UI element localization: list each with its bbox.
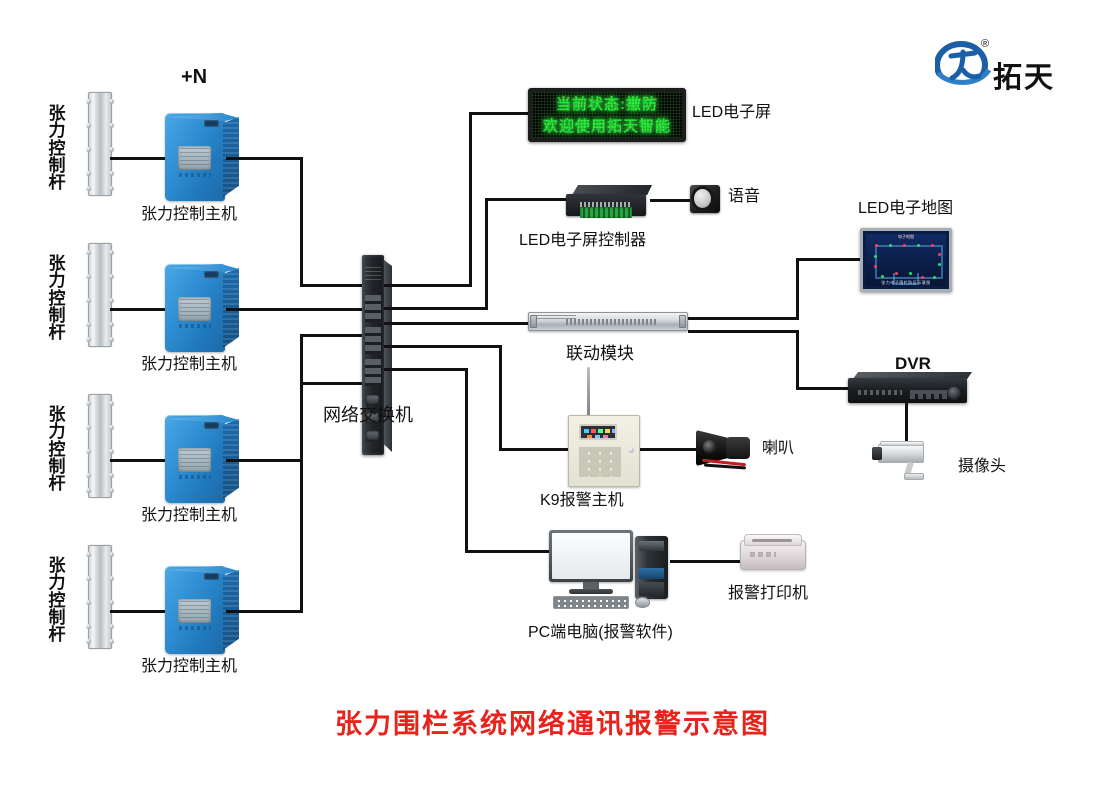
wire-host4-trunk <box>226 610 303 613</box>
wire-trunk-row1 <box>300 157 303 287</box>
wire-linkage-map-v <box>796 258 799 320</box>
wire-linkage-map-h1 <box>688 317 799 320</box>
pole-label-2: 张力控制杆 <box>48 255 66 342</box>
tension-pole-3 <box>88 394 112 498</box>
brand-logo: ® 拓天 <box>935 38 1095 96</box>
wire-pole3-host3 <box>110 459 170 462</box>
wire-switch-pc-v <box>465 368 468 553</box>
horn-speaker <box>696 428 762 472</box>
tension-pole-4 <box>88 545 112 649</box>
alarm-printer <box>740 532 812 576</box>
wire-switch-ledscreen-h1 <box>384 284 472 287</box>
wire-switch-k9-v <box>499 345 502 451</box>
linkage-module <box>528 312 688 334</box>
horn-label: 喇叭 <box>762 440 794 458</box>
k9-alarm-host-label: K9报警主机 <box>540 492 624 510</box>
wire-dvr-camera <box>905 403 908 444</box>
wire-pole4-host4 <box>110 610 170 613</box>
wire-switch-pc-h2 <box>465 550 553 553</box>
wire-switch-ledctrl-h1 <box>384 307 488 310</box>
wire-switch-linkage <box>384 322 531 325</box>
led-map-screen-title: 电子地图 <box>863 234 949 240</box>
wire-switch-k9-h2 <box>499 448 570 451</box>
wire-pc-printer <box>670 560 744 563</box>
tension-host-label-3: 张力控制主机 <box>141 507 237 525</box>
network-switch-label: 网络交换机 <box>323 405 413 426</box>
wire-trunk-row4 <box>300 382 303 612</box>
wire-switch-ledctrl-h2 <box>485 198 570 201</box>
tension-host-label-2: 张力控制主机 <box>141 356 237 374</box>
led-screen-label: LED电子屏 <box>692 104 771 122</box>
wire-switch-ledscreen-h2 <box>469 112 531 115</box>
voice-speaker <box>690 185 720 213</box>
wire-switch-ledctrl-v <box>485 198 488 310</box>
tension-host-label-4: 张力控制主机 <box>141 658 237 676</box>
wire-switch-pc-h1 <box>384 368 468 371</box>
led-controller <box>566 185 652 219</box>
brand-name: 拓天 <box>993 54 1055 96</box>
wire-switch-k9-h1 <box>384 345 502 348</box>
wire-switch-ledscreen-v <box>469 112 472 287</box>
led-map: 电子地图 张力电子围栏防区示意图 <box>860 228 952 292</box>
voice-label: 语音 <box>728 188 760 206</box>
tension-pole-1 <box>88 92 112 196</box>
wire-linkage-dvr-h2 <box>796 387 852 390</box>
wire-host3-trunk <box>226 459 303 462</box>
camera-label: 摄像头 <box>958 458 1006 476</box>
k9-alarm-host <box>568 415 640 487</box>
wire-linkage-dvr-v <box>796 330 799 390</box>
wire-linkage-map-h2 <box>796 258 862 261</box>
registered-mark: ® <box>981 38 989 50</box>
led-screen: 当前状态:撤防 欢迎使用拓天智能 <box>528 88 686 142</box>
pc-label: PC端电脑(报警软件) <box>528 624 673 642</box>
dvr-label: DVR <box>895 354 931 374</box>
led-map-label: LED电子地图 <box>858 200 953 218</box>
plus-n-label: +N <box>181 66 207 89</box>
printer-label: 报警打印机 <box>728 585 808 603</box>
camera-device <box>878 440 942 484</box>
pc-workstation <box>549 530 673 610</box>
wire-ledctrl-voice <box>650 199 692 202</box>
linkage-module-label: 联动模块 <box>566 344 634 364</box>
pole-label-1: 张力控制杆 <box>48 105 66 192</box>
wire-host2-switch <box>226 308 372 311</box>
diagram-canvas: ® 拓天 +N 张力控制杆 张力控制主机 张力控制杆 张力控制主机 <box>0 0 1105 800</box>
tension-host-label-1: 张力控制主机 <box>141 206 237 224</box>
led-controller-label: LED电子屏控制器 <box>519 232 646 250</box>
pole-label-3: 张力控制杆 <box>48 406 66 493</box>
wire-k9-horn <box>640 448 700 451</box>
dvr-device <box>848 372 972 404</box>
led-map-screen-caption: 张力电子围栏防区示意图 <box>863 280 949 286</box>
wire-pole1-host1 <box>110 157 170 160</box>
diagram-title: 张力围栏系统网络通讯报警示意图 <box>0 702 1105 741</box>
tension-pole-2 <box>88 243 112 347</box>
wire-pole2-host2 <box>110 308 170 311</box>
pole-label-4: 张力控制杆 <box>48 557 66 644</box>
wire-host1-trunk <box>226 157 303 160</box>
wire-linkage-dvr-h1 <box>688 330 799 333</box>
